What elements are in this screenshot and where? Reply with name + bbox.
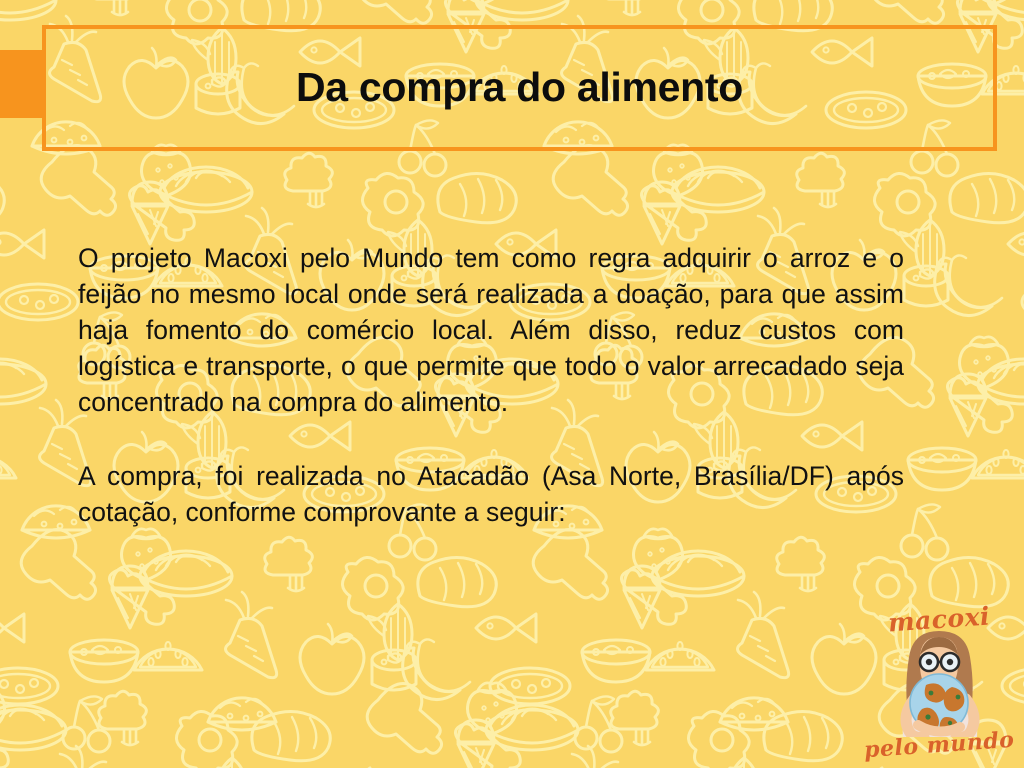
slide-canvas: Da compra do alimento O projeto Macoxi p…: [0, 0, 1024, 768]
page-title: Da compra do alimento: [296, 65, 743, 110]
macoxi-pelo-mundo-logo: macoxi: [864, 599, 1014, 764]
title-accent-tab: [0, 50, 44, 118]
title-frame: Da compra do alimento: [42, 25, 997, 151]
girl-hugging-globe-icon: [878, 625, 1000, 737]
body-text-block: O projeto Macoxi pelo Mundo tem como reg…: [78, 240, 904, 530]
paragraph-1: O projeto Macoxi pelo Mundo tem como reg…: [78, 240, 904, 420]
pattern-tile-row-5: [0, 683, 1006, 768]
paragraph-2: A compra, foi realizada no Atacadão (Asa…: [78, 458, 904, 530]
